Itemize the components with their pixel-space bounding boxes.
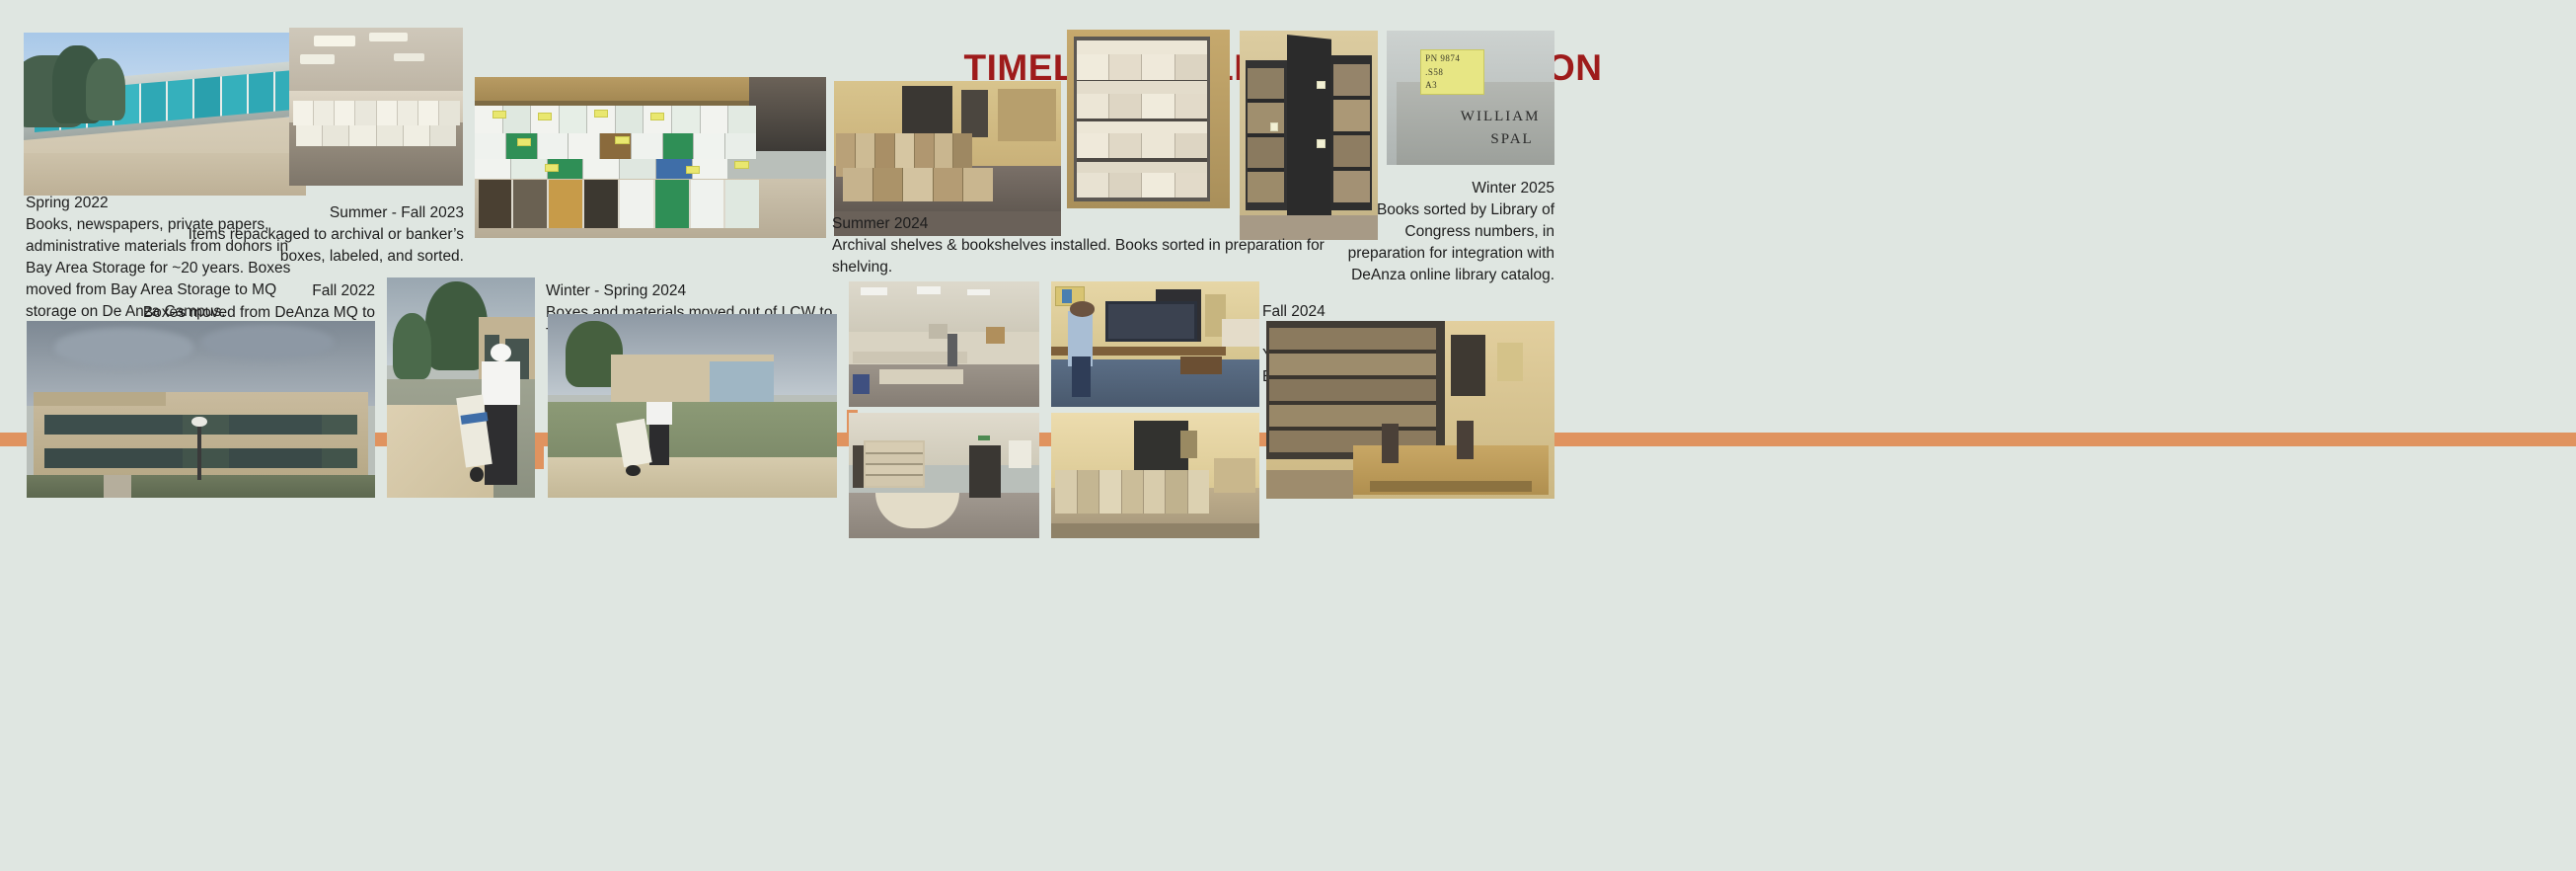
photo-finished-shelves <box>1266 321 1554 499</box>
sticky-note-line1: PN 9874 <box>1425 53 1460 63</box>
photo-mq-storage-room <box>289 28 463 186</box>
caption-winter-2025: Winter 2025 Books sorted by Library of C… <box>1327 178 1554 286</box>
caption-date: Fall 2022 <box>133 280 375 302</box>
photo-repackaged-boxes <box>475 77 826 238</box>
caption-date: Winter 2025 <box>1327 178 1554 199</box>
photo-handcart-trianon <box>548 314 837 498</box>
caption-body: Archival shelves & bookshelves installed… <box>832 235 1345 278</box>
caption-summer-fall-2023: Summer - Fall 2023 Items repackaged to a… <box>188 202 464 268</box>
caption-body: Items repackaged to archival or banker’s… <box>188 224 464 268</box>
sticky-note-line3: A3 <box>1425 80 1437 90</box>
caption-date: Winter - Spring 2024 <box>546 280 842 302</box>
photo-book-stacks-tables <box>1051 413 1259 538</box>
box-label-line2: SPAL <box>1490 131 1533 148</box>
photo-archival-shelving <box>1067 30 1230 208</box>
photo-carrying-shelf <box>1051 281 1259 407</box>
poster-canvas: TIMELINE OF LIBRARY EXPANSION <box>0 0 2576 871</box>
photo-storage-units <box>24 33 306 196</box>
box-label-line1: WILLIAM <box>1461 109 1541 125</box>
photo-call-number-note: PN 9874 .S58 A3 WILLIAM SPAL <box>1387 31 1554 165</box>
photo-circulation-desk <box>849 413 1039 538</box>
caption-date: Summer 2024 <box>832 213 1345 235</box>
photo-empty-tables-room <box>849 281 1039 407</box>
caption-body: Books sorted by Library of Congress numb… <box>1327 199 1554 286</box>
sticky-note-line2: .S58 <box>1425 67 1443 77</box>
caption-date: Summer - Fall 2023 <box>188 202 464 224</box>
photo-lcw-building <box>27 321 375 498</box>
photo-handcart-mover <box>387 277 535 498</box>
caption-summer-2024: Summer 2024 Archival shelves & bookshelv… <box>832 213 1345 278</box>
caption-date: Fall 2024 <box>1262 301 1558 323</box>
